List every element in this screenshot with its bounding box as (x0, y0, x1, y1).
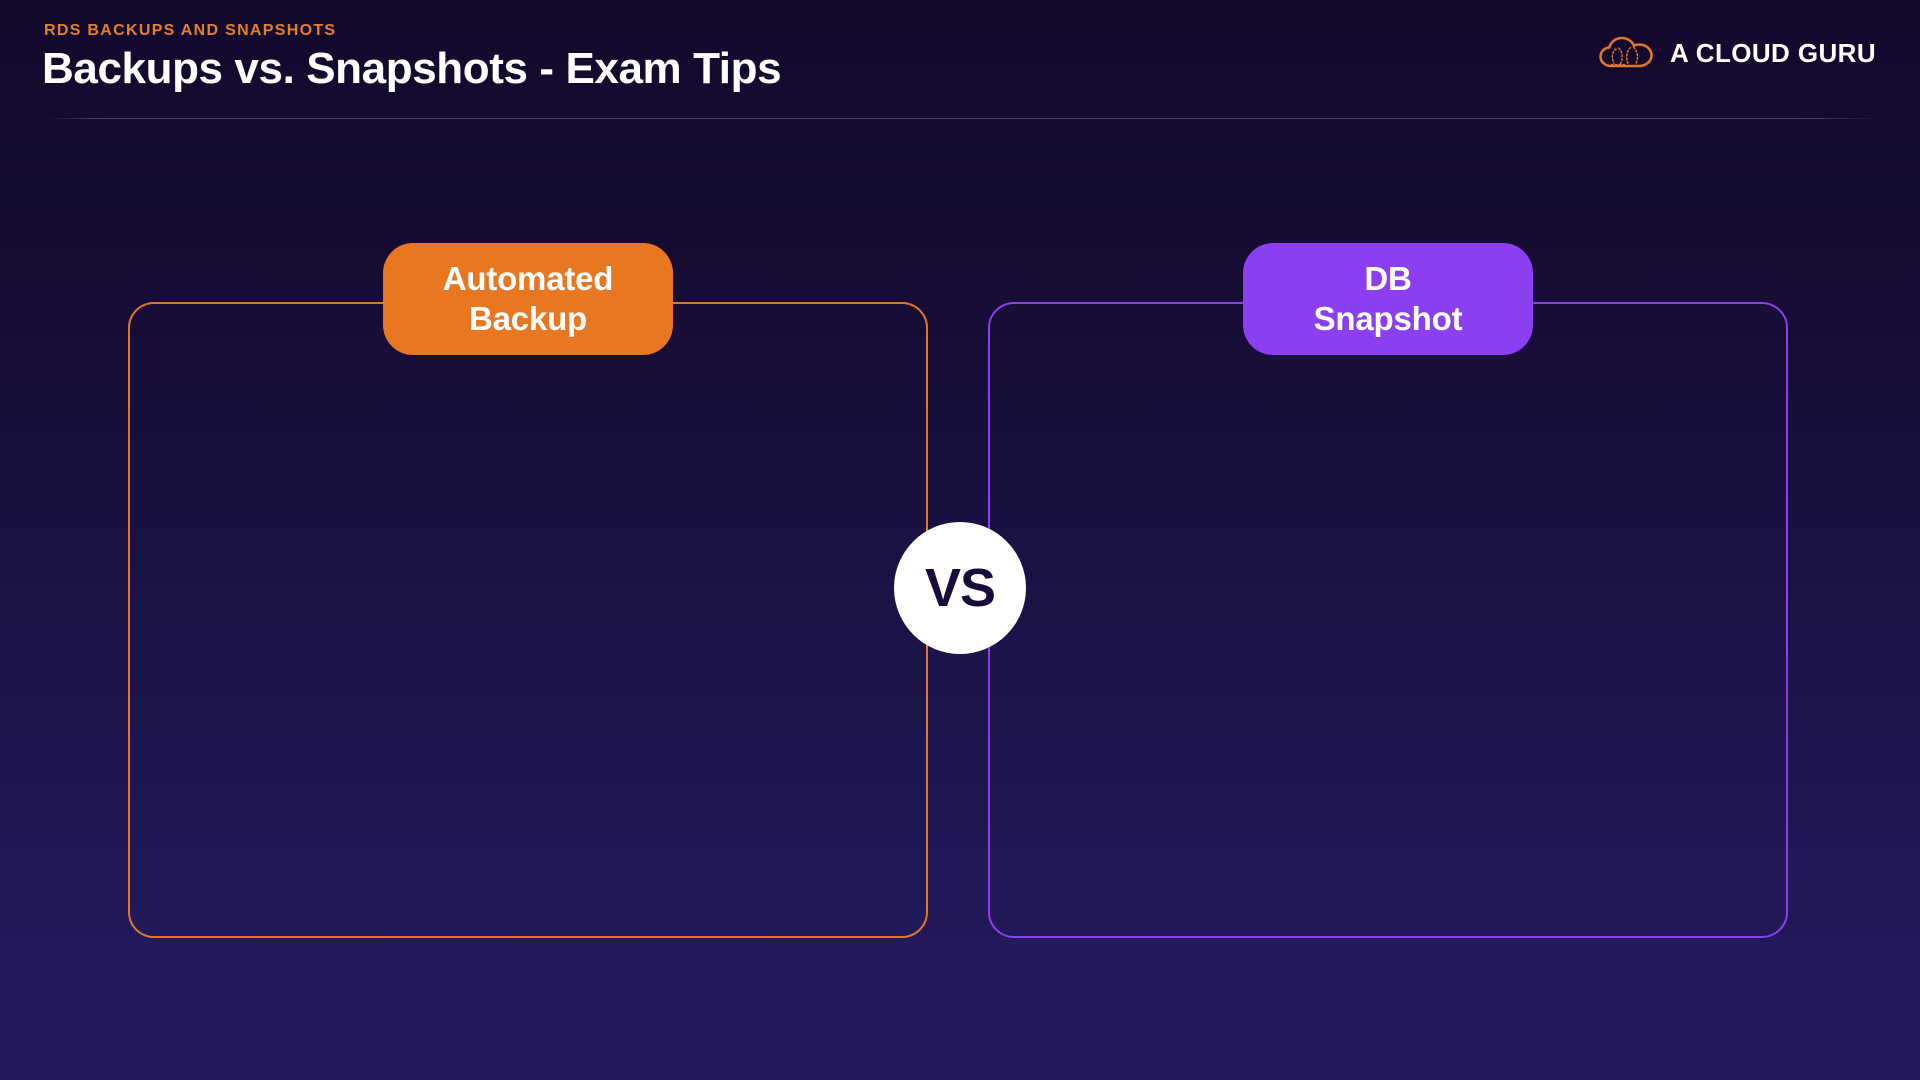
vs-separator-badge: VS (894, 522, 1026, 654)
badge-db-snapshot: DB Snapshot (1243, 243, 1533, 355)
badge-left-line1: Automated (443, 259, 614, 299)
badge-automated-backup: Automated Backup (383, 243, 673, 355)
slide-header: RDS BACKUPS AND SNAPSHOTS Backups vs. Sn… (0, 0, 1920, 120)
eyebrow-label: RDS BACKUPS AND SNAPSHOTS (44, 22, 336, 40)
comparison-panel-db-snapshot (988, 302, 1788, 938)
comparison-panel-automated-backup (128, 302, 928, 938)
page-title: Backups vs. Snapshots - Exam Tips (42, 44, 781, 94)
badge-right-line2: Snapshot (1314, 299, 1463, 339)
brand-lockup: A CLOUD GURU (1598, 30, 1876, 76)
slide-canvas: RDS BACKUPS AND SNAPSHOTS Backups vs. Sn… (0, 0, 1920, 1080)
cloud-icon (1598, 33, 1656, 73)
badge-left-line2: Backup (443, 299, 614, 339)
brand-name: A CLOUD GURU (1670, 38, 1876, 69)
header-divider (44, 118, 1880, 119)
badge-right-line1: DB (1314, 259, 1463, 299)
